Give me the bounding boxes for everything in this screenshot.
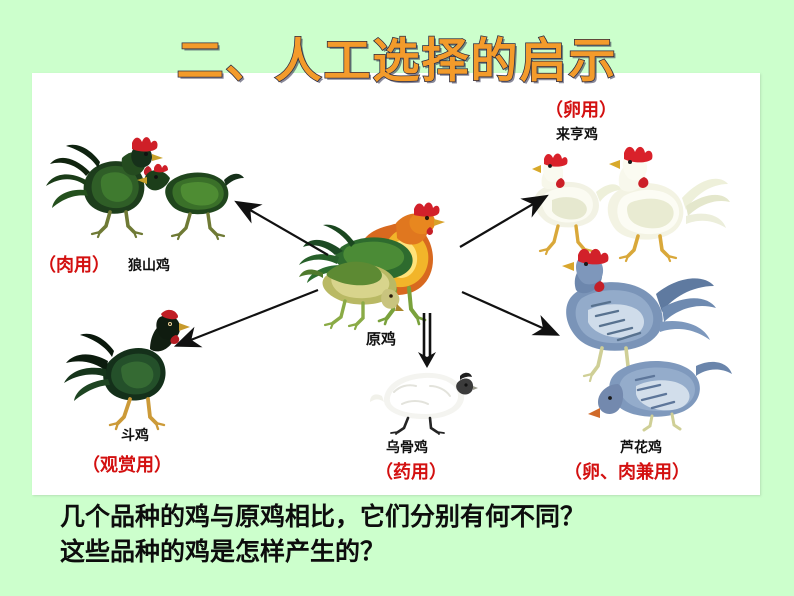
question-block: 几个品种的鸡与原鸡相比，它们分别有何不同？ 这些品种的鸡是怎样产生的？ [60,500,780,569]
bird-silkie [368,362,478,434]
label-breed-langshan: 狼山鸡 [128,255,170,275]
slide-canvas: 二、人工选择的启示 [0,0,794,596]
label-use-gamecock: （观赏用） [82,451,172,477]
page-title: 二、人工选择的启示 [0,22,794,91]
bird-barred-rock [548,250,748,430]
label-use-barred-rock: （卵、肉兼用） [564,458,690,484]
label-breed-jungle-fowl: 原鸡 [366,328,396,349]
label-use-leghorn: （卵用） [545,96,617,122]
label-use-silkie: （药用） [375,458,447,484]
bird-leghorn [520,148,740,258]
bird-jungle-fowl [283,185,463,325]
bird-langshan [42,128,232,238]
label-breed-gamecock: 斗鸡 [121,425,149,445]
bird-gamecock [62,305,212,425]
label-breed-silkie: 乌骨鸡 [386,437,428,457]
label-breed-barred-rock: 芦花鸡 [620,437,662,457]
label-use-langshan: （肉用） [38,251,110,277]
question-line-2: 这些品种的鸡是怎样产生的？ [60,535,780,570]
label-breed-leghorn: 来亨鸡 [556,124,598,144]
question-line-1: 几个品种的鸡与原鸡相比，它们分别有何不同？ [60,500,780,535]
